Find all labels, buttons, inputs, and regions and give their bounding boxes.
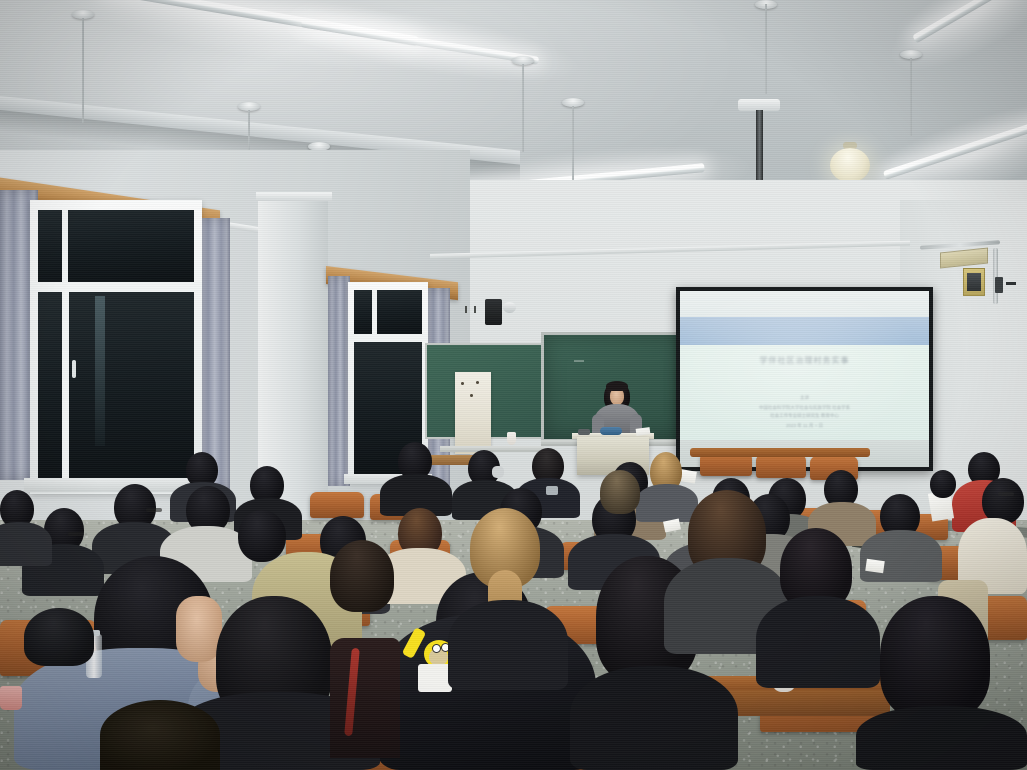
student-body-f2 (756, 596, 880, 688)
student-mask-b2 (492, 466, 504, 478)
student-glasses-m1 (146, 508, 162, 512)
podium-object-dark (578, 429, 590, 435)
projection-screen[interactable]: 学伴社区治理村务实事 主讲 中国社会科学院大学社会与民族学院 社会学系 社会工作… (676, 287, 933, 471)
notice-panel-pin-3 (470, 394, 473, 397)
window-mullion-2-v (372, 290, 377, 334)
student-head-f6 (600, 470, 640, 514)
pillar-cap (256, 192, 332, 201)
pink-cup[interactable] (0, 686, 22, 710)
paper-handout-right[interactable] (865, 559, 884, 573)
window-reflection-1 (95, 296, 105, 446)
wall-pipe-vertical (993, 248, 998, 304)
window-mullion-2-h (348, 334, 428, 342)
student-red-accent-jacket (330, 638, 400, 758)
wall-hook-2 (474, 306, 476, 313)
student-head-f7 (24, 608, 94, 666)
student-blonde-body (448, 600, 568, 690)
podium-object-blue[interactable] (600, 427, 622, 435)
presenter-hair-front (606, 381, 628, 391)
wall-switch-box[interactable] (995, 277, 1003, 293)
student-body-m11 (0, 522, 52, 566)
window-mullion-1-v2 (62, 210, 68, 282)
desk-row-far-right (690, 448, 870, 457)
wall-control-panel-face (967, 273, 981, 291)
pendant-rod-4 (522, 64, 524, 152)
homer-shirt (418, 664, 452, 692)
white-cup[interactable] (507, 432, 516, 445)
wall-hook-1 (465, 306, 467, 313)
student-forearm (176, 596, 222, 662)
chalkboard-chalk-mark (574, 360, 584, 362)
security-camera-icon (503, 302, 516, 313)
window-mullion-1-v (62, 292, 69, 478)
seat-row-far-1[interactable] (310, 492, 364, 518)
student-head-rr (930, 470, 956, 498)
student-glasses-m10 (68, 532, 84, 536)
classroom-photo: 学伴社区治理村务实事 主讲 中国社会科学院大学社会与民族学院 社会学系 社会工作… (0, 0, 1027, 770)
window-glass-2-upper (354, 290, 422, 334)
pendant-rod-1 (82, 18, 84, 123)
wall-bracket-hook (1006, 282, 1016, 285)
seat-row-far-4[interactable] (756, 454, 806, 478)
student-longhair-body (570, 666, 738, 770)
pendant-rod-7 (765, 4, 767, 94)
student-glasses-rr (998, 492, 1014, 496)
presentation-slide: 学伴社区治理村务实事 主讲 中国社会科学院大学社会与民族学院 社会学系 社会工作… (680, 291, 929, 467)
student-body-f3 (856, 706, 1027, 770)
window-curtain-left-2[interactable] (328, 276, 350, 486)
slide-projection-glare (680, 291, 929, 467)
wall-speaker (485, 299, 502, 325)
student-head-olive (238, 510, 286, 562)
pendant-globe-1[interactable] (830, 148, 870, 182)
notice-panel-pin-1 (461, 382, 464, 385)
student-body-m9 (860, 530, 942, 582)
homer-eye-left (432, 644, 441, 653)
student-body-blonde-far (636, 484, 698, 522)
pendant-rod-5 (572, 106, 574, 188)
window-handle-1[interactable] (72, 360, 76, 378)
notice-panel-pin-2 (476, 381, 479, 384)
wall-ledge (440, 446, 544, 452)
window-mullion-1-h (30, 282, 202, 292)
student-head-f4 (330, 540, 394, 612)
pendant-rod-6 (910, 58, 912, 136)
phone-screen-glow (546, 486, 558, 495)
student-head-f3 (880, 596, 990, 720)
student-head-f5 (100, 700, 220, 770)
